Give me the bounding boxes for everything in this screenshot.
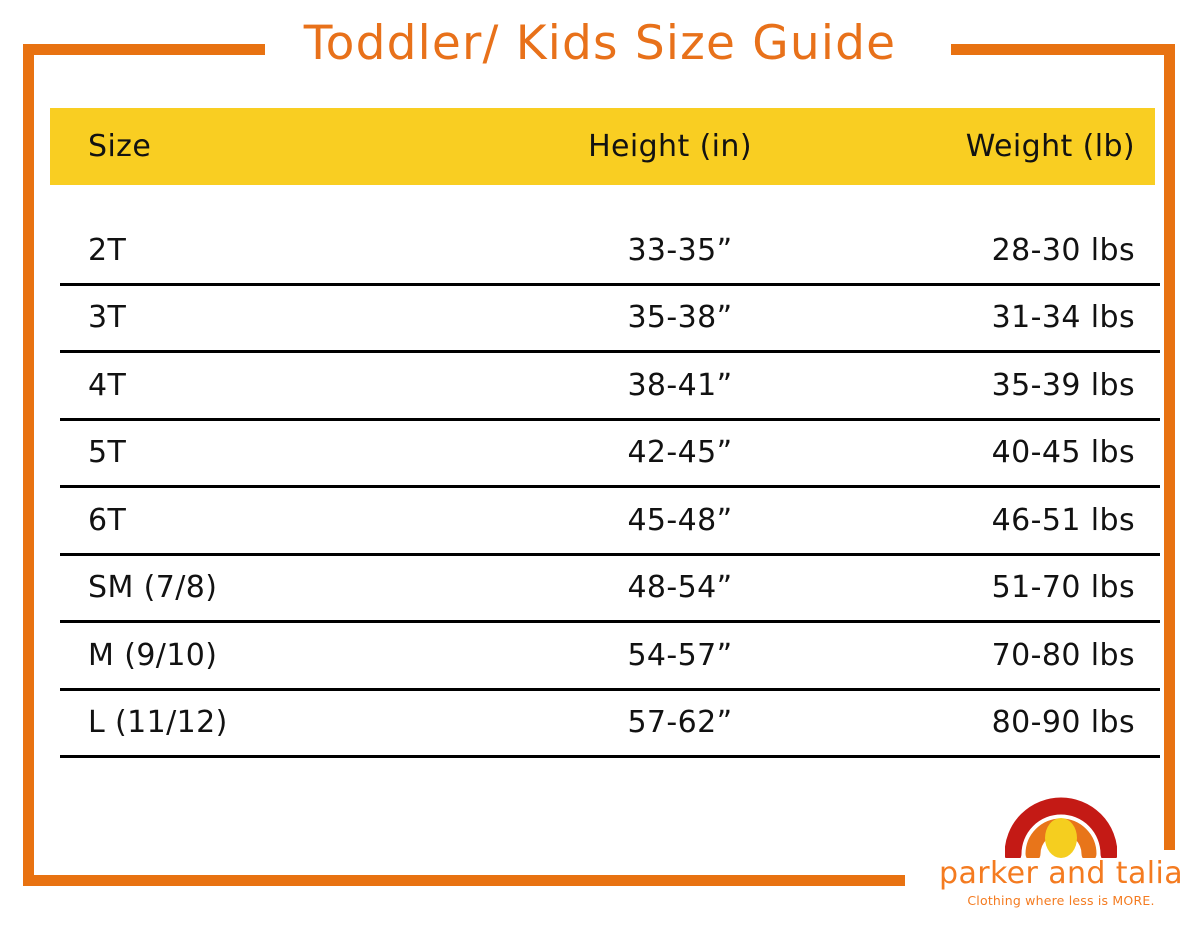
- frame-left-segment: [23, 44, 34, 886]
- frame-bottom-segment: [23, 875, 905, 886]
- size-guide-page: Toddler/ Kids Size Guide Size Height (in…: [0, 0, 1200, 927]
- cell-size: 2T: [60, 233, 490, 268]
- cell-weight: 70-80 lbs: [870, 638, 1160, 673]
- table-row: 3T 35-38” 31-34 lbs: [60, 286, 1160, 354]
- table-row: 2T 33-35” 28-30 lbs: [60, 218, 1160, 286]
- rainbow-arc-icon: [1005, 762, 1117, 858]
- table-row: M (9/10) 54-57” 70-80 lbs: [60, 623, 1160, 691]
- table-row: 6T 45-48” 46-51 lbs: [60, 488, 1160, 556]
- cell-height: 57-62”: [490, 705, 870, 740]
- cell-size: 4T: [60, 368, 490, 403]
- brand-wordmark: parker and talia: [930, 856, 1192, 891]
- table-row: 5T 42-45” 40-45 lbs: [60, 421, 1160, 489]
- column-header-height: Height (in): [480, 129, 860, 164]
- cell-weight: 46-51 lbs: [870, 503, 1160, 538]
- cell-weight: 28-30 lbs: [870, 233, 1160, 268]
- cell-size: 6T: [60, 503, 490, 538]
- cell-size: SM (7/8): [60, 570, 490, 605]
- size-table: Size Height (in) Weight (lb) 2T 33-35” 2…: [50, 108, 1155, 185]
- frame-right-segment: [1164, 44, 1175, 850]
- cell-weight: 80-90 lbs: [870, 705, 1160, 740]
- column-header-size: Size: [50, 129, 480, 164]
- cell-height: 35-38”: [490, 300, 870, 335]
- cell-height: 54-57”: [490, 638, 870, 673]
- cell-weight: 40-45 lbs: [870, 435, 1160, 470]
- cell-height: 38-41”: [490, 368, 870, 403]
- table-row: 4T 38-41” 35-39 lbs: [60, 353, 1160, 421]
- cell-weight: 51-70 lbs: [870, 570, 1160, 605]
- page-title: Toddler/ Kids Size Guide: [0, 16, 1200, 71]
- cell-size: L (11/12): [60, 705, 490, 740]
- cell-height: 45-48”: [490, 503, 870, 538]
- cell-size: M (9/10): [60, 638, 490, 673]
- table-row: SM (7/8) 48-54” 51-70 lbs: [60, 556, 1160, 624]
- cell-size: 5T: [60, 435, 490, 470]
- brand-logo: parker and talia Clothing where less is …: [930, 762, 1192, 908]
- table-header-row: Size Height (in) Weight (lb): [50, 108, 1155, 185]
- cell-weight: 31-34 lbs: [870, 300, 1160, 335]
- table-row: L (11/12) 57-62” 80-90 lbs: [60, 691, 1160, 759]
- cell-height: 33-35”: [490, 233, 870, 268]
- cell-size: 3T: [60, 300, 490, 335]
- cell-height: 42-45”: [490, 435, 870, 470]
- table-body: 2T 33-35” 28-30 lbs 3T 35-38” 31-34 lbs …: [60, 218, 1160, 758]
- brand-tagline: Clothing where less is MORE.: [930, 893, 1192, 908]
- cell-height: 48-54”: [490, 570, 870, 605]
- cell-weight: 35-39 lbs: [870, 368, 1160, 403]
- column-header-weight: Weight (lb): [860, 129, 1155, 164]
